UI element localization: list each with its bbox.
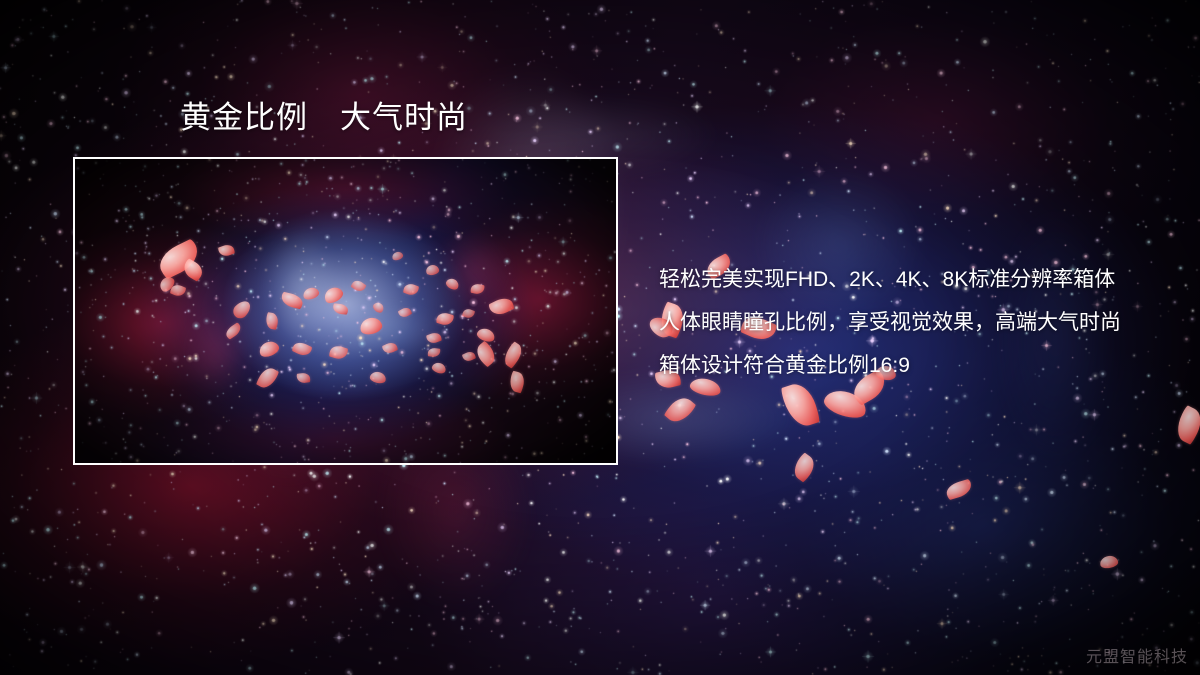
petal: [789, 452, 818, 483]
presentation-slide: 黄金比例 大气时尚 轻松完美实现FHD、2K、4K、8K标准分辨率箱体 人体眼睛…: [0, 0, 1200, 675]
petal: [462, 307, 476, 319]
petal: [391, 250, 404, 261]
petal: [780, 380, 821, 431]
petal: [470, 283, 485, 295]
petal: [280, 292, 304, 310]
petal: [371, 301, 385, 315]
body-text-block: 轻松完美实现FHD、2K、4K、8K标准分辨率箱体 人体眼睛瞳孔比例，享受视觉效…: [659, 258, 1179, 387]
petal: [328, 344, 348, 362]
petal: [265, 312, 280, 330]
petal: [333, 303, 349, 315]
petal: [663, 393, 696, 427]
petal: [369, 370, 387, 384]
petal: [1172, 405, 1200, 445]
petal: [462, 350, 477, 363]
petal: [350, 278, 366, 294]
watermark: 元盟智能科技: [1086, 643, 1188, 667]
framed-image-petals: [75, 159, 616, 463]
petal: [256, 365, 280, 392]
petal: [431, 361, 447, 375]
petal: [358, 316, 383, 337]
petal: [500, 341, 525, 369]
body-line-3: 箱体设计符合黄金比例16:9: [659, 344, 1179, 387]
petal: [257, 339, 281, 359]
body-line-2: 人体眼睛瞳孔比例，享受视觉效果，高端大气时尚: [659, 301, 1179, 344]
petal: [508, 371, 526, 394]
petal: [444, 277, 460, 292]
petal: [425, 264, 440, 276]
framed-image: [73, 157, 618, 465]
petal: [426, 331, 443, 345]
petal: [398, 306, 413, 320]
petal: [302, 286, 321, 301]
petal: [218, 243, 236, 258]
petal: [427, 347, 440, 358]
petal: [382, 341, 399, 356]
petal: [944, 479, 973, 501]
petal: [224, 322, 244, 340]
petal: [230, 298, 253, 321]
petal: [403, 282, 420, 297]
petal: [436, 311, 455, 327]
petal: [1099, 555, 1119, 570]
petal: [488, 295, 515, 319]
body-line-1: 轻松完美实现FHD、2K、4K、8K标准分辨率箱体: [659, 258, 1179, 301]
page-title: 黄金比例 大气时尚: [180, 99, 468, 136]
petal: [473, 340, 499, 367]
petal: [296, 372, 310, 384]
petal: [291, 340, 312, 359]
